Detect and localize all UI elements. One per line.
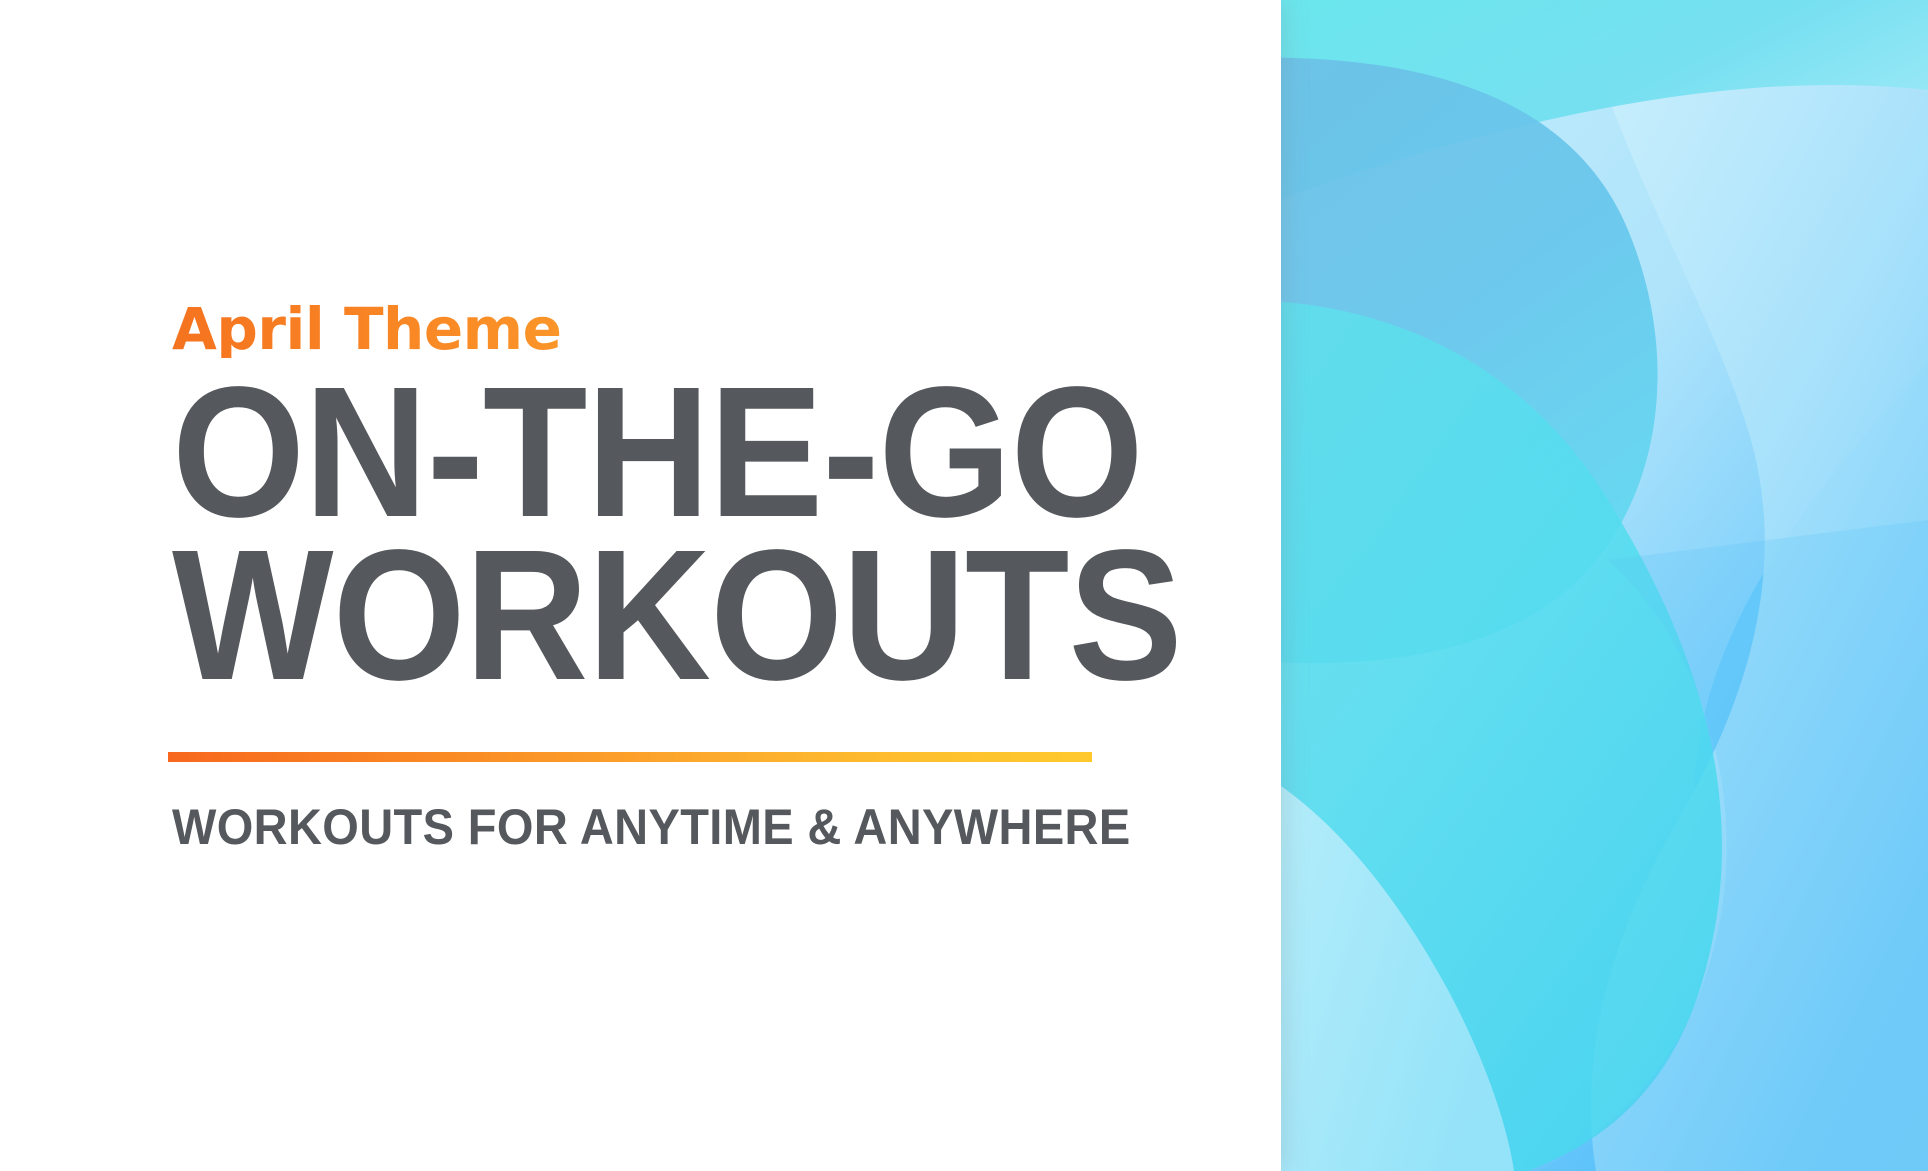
abstract-blue-waves-graphic: [1278, 0, 1928, 1171]
headline-line-1: ON-THE-GO: [172, 372, 1055, 535]
poster-canvas: April Theme ON-THE-GO WORKOUTS WORKOUTS …: [0, 0, 1928, 1171]
content-panel: April Theme ON-THE-GO WORKOUTS WORKOUTS …: [0, 0, 1281, 1171]
subtitle-text: WORKOUTS FOR ANYTIME & ANYWHERE: [172, 802, 1131, 852]
headline-line-2: WORKOUTS: [172, 535, 1055, 698]
decorative-artwork-panel: [1278, 0, 1928, 1171]
page-title: ON-THE-GO WORKOUTS: [172, 372, 1055, 698]
poster-text-block: April Theme ON-THE-GO WORKOUTS: [172, 300, 1132, 698]
gradient-divider-rule: [168, 752, 1092, 762]
